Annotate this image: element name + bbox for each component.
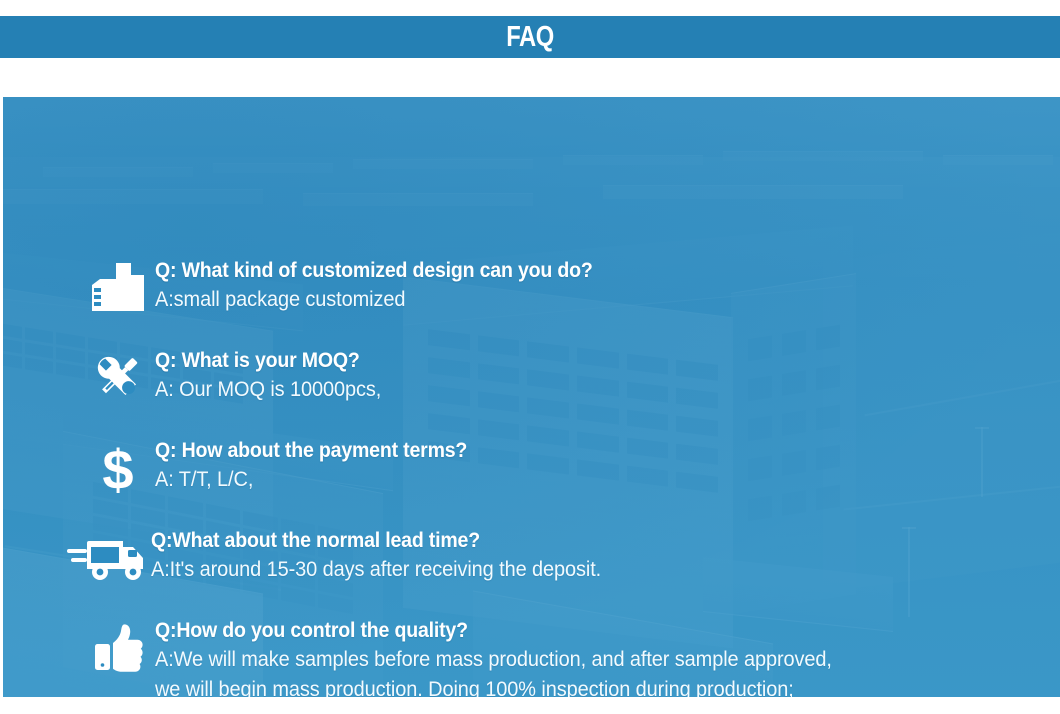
faq-text: Q:What about the normal lead time? A:It'… — [151, 527, 625, 585]
faq-item: Q: What kind of customized design can yo… — [81, 257, 626, 315]
faq-list: Q: What kind of customized design can yo… — [3, 97, 1060, 697]
svg-text:$: $ — [102, 441, 133, 499]
faq-text: Q: What kind of customized design can yo… — [155, 257, 626, 315]
faq-item: Q:What about the normal lead time? A:It'… — [81, 527, 625, 585]
faq-question: Q: What kind of customized design can yo… — [155, 257, 593, 285]
page-title: FAQ — [506, 23, 554, 52]
faq-answer-line: A:It's around 15-30 days after receiving… — [151, 555, 601, 585]
faq-answer-line: A: T/T, L/C, — [155, 465, 474, 495]
faq-answer-line: A:small package customized — [155, 285, 602, 315]
faq-text: Q:How do you control the quality? A:We w… — [155, 617, 868, 697]
faq-item: $ Q: How about the payment terms? A: T/T… — [81, 437, 491, 499]
faq-question: Q: What is your MOQ? — [155, 347, 376, 375]
faq-question: Q: How about the payment terms? — [155, 437, 467, 465]
header-bar: FAQ — [0, 16, 1060, 58]
tools-icon — [81, 347, 155, 403]
dollar-icon: $ — [81, 437, 155, 499]
factory-icon — [81, 257, 155, 313]
faq-answer-line: we will begin mass production. Doing 100… — [155, 675, 832, 697]
faq-question: Q:What about the normal lead time? — [151, 527, 592, 555]
header-separator — [0, 58, 1060, 98]
faq-banner: FAQ — [0, 0, 1060, 714]
bottom-margin — [0, 697, 1060, 714]
faq-item: Q: What is your MOQ? A: Our MOQ is 10000… — [81, 347, 393, 405]
faq-item: Q:How do you control the quality? A:We w… — [81, 617, 868, 697]
faq-text: Q: How about the payment terms? A: T/T, … — [155, 437, 491, 495]
faq-answer-line: A:We will make samples before mass produ… — [155, 645, 832, 675]
faq-question: Q:How do you control the quality? — [155, 617, 818, 645]
faq-answer-line: A: Our MOQ is 10000pcs, — [155, 375, 381, 405]
thumbs-up-icon — [81, 617, 155, 675]
background-photo-panel: Q: What kind of customized design can yo… — [3, 97, 1060, 697]
faq-text: Q: What is your MOQ? A: Our MOQ is 10000… — [155, 347, 393, 405]
truck-icon — [65, 527, 151, 583]
